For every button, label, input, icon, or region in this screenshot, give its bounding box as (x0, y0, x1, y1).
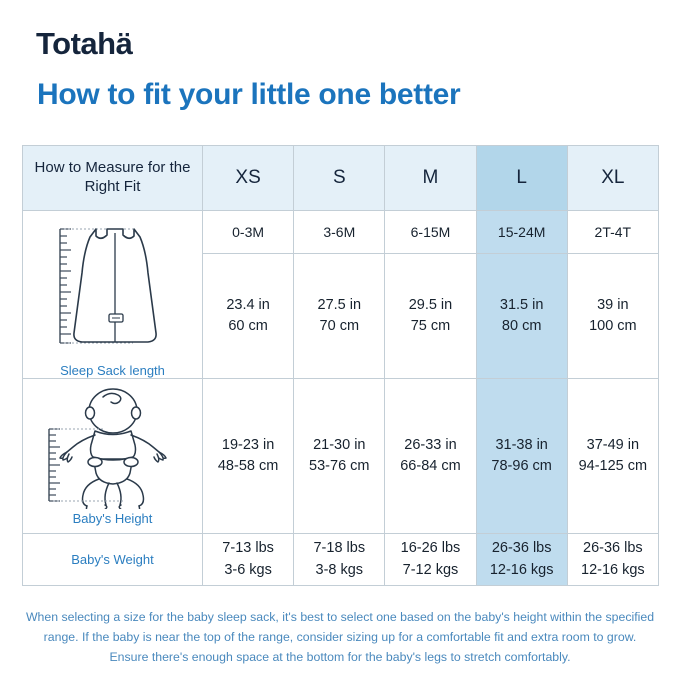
table-row-babys-weight: Baby's Weight 7-13 lbs 3-6 kgs 7-18 lbs … (23, 534, 659, 586)
cell-length-m: 29.5 in 75 cm (385, 253, 476, 378)
cell-height-m-in: 26-33 in (385, 435, 475, 456)
cell-height-m: 26-33 in 66-84 cm (385, 379, 476, 534)
size-chart-container: How to Measure for the Right Fit XS S M … (22, 145, 658, 586)
row-label-sleep-sack-length: Sleep Sack length (23, 211, 203, 379)
cell-weight-xl: 26-36 lbs 12-16 kgs (567, 534, 658, 586)
cell-weight-m-lbs: 16-26 lbs (385, 538, 475, 559)
size-chart-table: How to Measure for the Right Fit XS S M … (22, 145, 659, 586)
cell-weight-s-lbs: 7-18 lbs (294, 538, 384, 559)
size-header-l[interactable]: L (476, 146, 567, 211)
cell-weight-xs-kgs: 3-6 kgs (203, 560, 293, 581)
cell-weight-l: 26-36 lbs 12-16 kgs (476, 534, 567, 586)
cell-length-m-in: 29.5 in (385, 295, 475, 316)
cell-height-xl-cm: 94-125 cm (568, 456, 658, 477)
cell-height-m-cm: 66-84 cm (385, 456, 475, 477)
cell-weight-m-kgs: 7-12 kgs (385, 560, 475, 581)
cell-length-xs: 23.4 in 60 cm (203, 253, 294, 378)
footnote: When selecting a size for the baby sleep… (22, 608, 658, 668)
baby-illustration (33, 387, 193, 509)
row-label-text-sleep-sack-length: Sleep Sack length (60, 363, 165, 378)
brand-logo: Totahä (36, 28, 132, 59)
cell-height-l: 31-38 in 78-96 cm (476, 379, 567, 534)
cell-height-l-cm: 78-96 cm (477, 456, 567, 477)
cell-weight-xl-lbs: 26-36 lbs (568, 538, 658, 559)
cell-length-xs-cm: 60 cm (203, 316, 293, 337)
cell-length-l: 31.5 in 80 cm (476, 253, 567, 378)
cell-length-xl: 39 in 100 cm (567, 253, 658, 378)
cell-age-s: 3-6M (294, 211, 385, 254)
cell-height-s: 21-30 in 53-76 cm (294, 379, 385, 534)
row-label-text-babys-height: Baby's Height (73, 511, 153, 526)
corner-header-cell: How to Measure for the Right Fit (23, 146, 203, 211)
cell-weight-l-kgs: 12-16 kgs (477, 560, 567, 581)
table-header-row: How to Measure for the Right Fit XS S M … (23, 146, 659, 211)
cell-weight-m: 16-26 lbs 7-12 kgs (385, 534, 476, 586)
cell-length-xl-cm: 100 cm (568, 316, 658, 337)
footnote-line-1: When selecting a size for the baby sleep… (22, 608, 658, 628)
cell-age-l: 15-24M (476, 211, 567, 254)
row-label-babys-height: Baby's Height (23, 379, 203, 534)
cell-weight-l-lbs: 26-36 lbs (477, 538, 567, 559)
cell-length-m-cm: 75 cm (385, 316, 475, 337)
cell-age-xs: 0-3M (203, 211, 294, 254)
cell-weight-xs-lbs: 7-13 lbs (203, 538, 293, 559)
cell-weight-xs: 7-13 lbs 3-6 kgs (203, 534, 294, 586)
row-label-babys-weight: Baby's Weight (23, 534, 203, 586)
cell-height-xl: 37-49 in 94-125 cm (567, 379, 658, 534)
cell-height-xs-in: 19-23 in (203, 435, 293, 456)
cell-weight-xl-kgs: 12-16 kgs (568, 560, 658, 581)
row-label-text-babys-weight: Baby's Weight (23, 552, 202, 567)
table-row-age: Sleep Sack length 0-3M 3-6M 6-15M 15-24M… (23, 211, 659, 254)
cell-length-xs-in: 23.4 in (203, 295, 293, 316)
size-header-xs[interactable]: XS (203, 146, 294, 211)
cell-height-xl-in: 37-49 in (568, 435, 658, 456)
footnote-line-3: Ensure there's enough space at the botto… (22, 648, 658, 668)
sleep-sack-illustration (38, 211, 188, 361)
cell-height-s-cm: 53-76 cm (294, 456, 384, 477)
cell-length-s: 27.5 in 70 cm (294, 253, 385, 378)
cell-weight-s: 7-18 lbs 3-8 kgs (294, 534, 385, 586)
cell-height-xs-cm: 48-58 cm (203, 456, 293, 477)
size-header-xl[interactable]: XL (567, 146, 658, 211)
cell-height-l-in: 31-38 in (477, 435, 567, 456)
cell-height-s-in: 21-30 in (294, 435, 384, 456)
cell-length-l-cm: 80 cm (477, 316, 567, 337)
cell-length-s-in: 27.5 in (294, 295, 384, 316)
footnote-line-2: range. If the baby is near the top of th… (22, 628, 658, 648)
cell-length-xl-in: 39 in (568, 295, 658, 316)
size-header-s[interactable]: S (294, 146, 385, 211)
table-row-babys-height: Baby's Height 19-23 in 48-58 cm 21-30 in… (23, 379, 659, 534)
cell-height-xs: 19-23 in 48-58 cm (203, 379, 294, 534)
cell-weight-s-kgs: 3-8 kgs (294, 560, 384, 581)
cell-length-l-in: 31.5 in (477, 295, 567, 316)
cell-length-s-cm: 70 cm (294, 316, 384, 337)
cell-age-xl: 2T-4T (567, 211, 658, 254)
size-header-m[interactable]: M (385, 146, 476, 211)
brand-name: Totahä (36, 26, 132, 61)
cell-age-m: 6-15M (385, 211, 476, 254)
page-title: How to fit your little one better (37, 78, 460, 111)
